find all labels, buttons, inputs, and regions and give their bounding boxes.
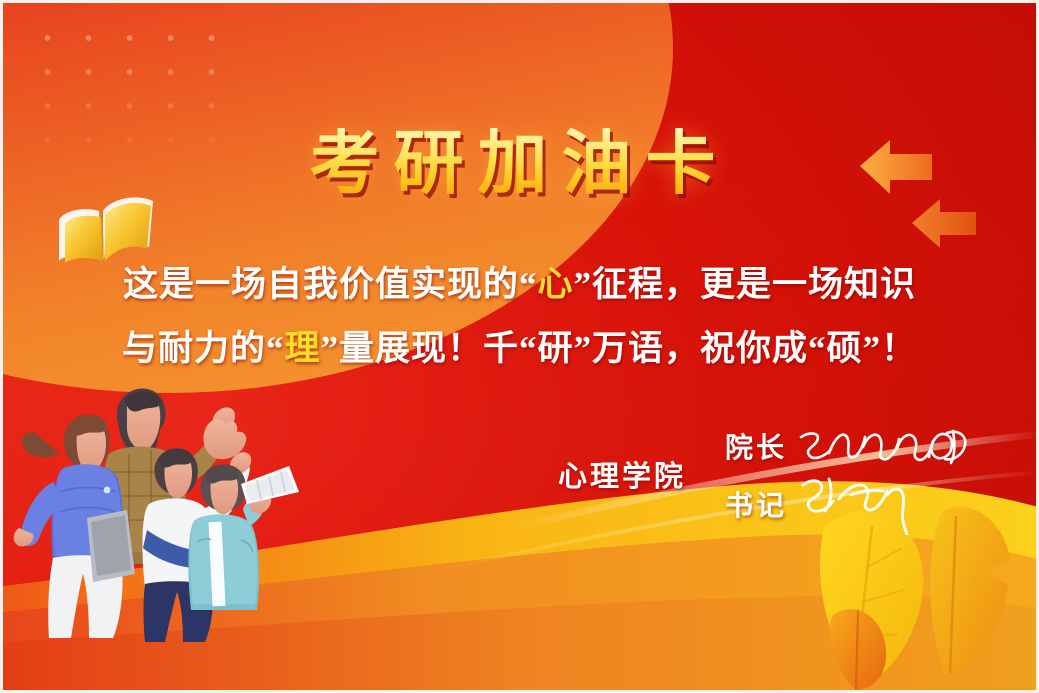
- message-line-1: 这是一场自我价值实现的“心”征程，更是一场知识: [3, 253, 1036, 317]
- message-text: 这是一场自我价值实现的“心”征程，更是一场知识 与耐力的“理”量展现！千“研”万…: [3, 253, 1036, 381]
- message-line-2-part-1: 与耐力的“: [122, 329, 285, 368]
- secretary-signature-row: 书记: [725, 473, 935, 535]
- dean-signature-row: 院长: [725, 423, 973, 469]
- message-line-1-highlight: 心: [537, 265, 573, 304]
- encouragement-card: 考研加油卡 这是一场自我价值实现的“心”征程，更是一场知识 与耐力的“理”量展现…: [0, 0, 1039, 693]
- message-line-2-highlight: 理: [284, 329, 320, 368]
- dean-label: 院长: [725, 426, 787, 466]
- message-line-1-part-1: 这是一场自我价值实现的“: [123, 265, 538, 304]
- page-title: 考研加油卡: [3, 128, 1036, 198]
- message-line-2-part-2: ”量展现！千“研”万语，祝你成“硕”！: [321, 329, 918, 368]
- secretary-handwritten-signature-icon: [795, 473, 935, 535]
- dean-handwritten-signature-icon: [795, 423, 973, 469]
- students-illustration: [9, 362, 299, 652]
- message-line-2: 与耐力的“理”量展现！千“研”万语，祝你成“硕”！: [3, 317, 1036, 381]
- secretary-label: 书记: [725, 484, 787, 524]
- message-line-1-part-2: ”征程，更是一场知识: [574, 265, 917, 304]
- department-name: 心理学院: [558, 453, 686, 495]
